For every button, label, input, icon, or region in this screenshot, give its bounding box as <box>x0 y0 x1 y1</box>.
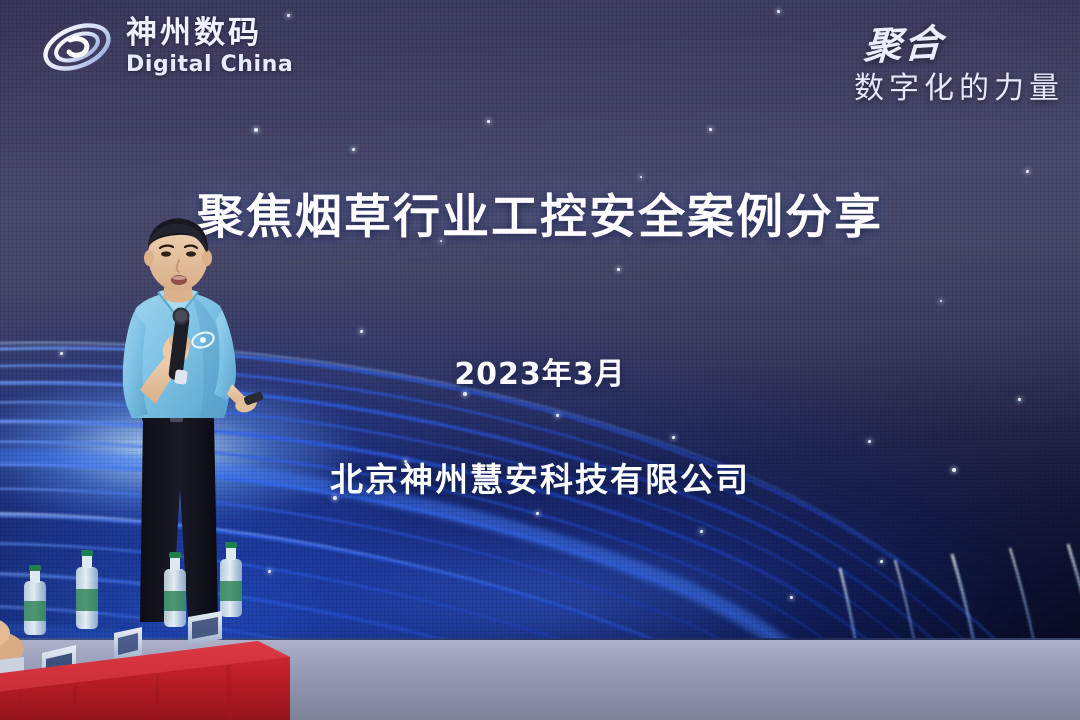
sparkle-particle <box>254 128 258 132</box>
sparkle-particle <box>868 440 871 443</box>
brand-name-en: Digital China <box>126 54 293 76</box>
sparkle-particle <box>880 560 883 563</box>
sparkle-particle <box>360 330 363 333</box>
slogan-subtitle: 数字化的力量 <box>854 63 1064 107</box>
sparkle-particle <box>790 596 793 599</box>
sparkle-particle <box>1026 170 1029 173</box>
sparkle-particle <box>672 436 675 439</box>
water-bottle <box>220 542 242 617</box>
sparkle-particle <box>1018 398 1021 401</box>
sparkle-particle <box>617 268 620 271</box>
water-bottle <box>76 550 98 629</box>
name-card <box>114 627 142 661</box>
name-card <box>188 611 222 645</box>
spiral-galaxy-icon <box>40 16 114 78</box>
sparkle-particle <box>352 148 355 151</box>
stage-photo: 神州数码 Digital China 聚合 数字化的力量 聚焦烟草行业工控安全案… <box>0 0 1080 720</box>
sparkle-particle <box>536 512 539 515</box>
water-bottle <box>164 552 186 627</box>
water-bottle <box>24 565 46 635</box>
brand-name-cn: 神州数码 <box>126 18 293 49</box>
sparkle-particle <box>556 414 559 417</box>
event-slogan: 聚合 数字化的力量 <box>854 14 1064 107</box>
panel-table <box>0 545 290 720</box>
sparkle-particle <box>700 530 703 533</box>
sparkle-particle <box>487 120 490 123</box>
slogan-calligraphy: 聚合 <box>852 12 945 72</box>
sparkle-particle <box>709 128 712 131</box>
brand-logo: 神州数码 Digital China <box>40 16 293 78</box>
sparkle-particle <box>777 10 780 13</box>
sparkle-particle <box>940 300 942 302</box>
